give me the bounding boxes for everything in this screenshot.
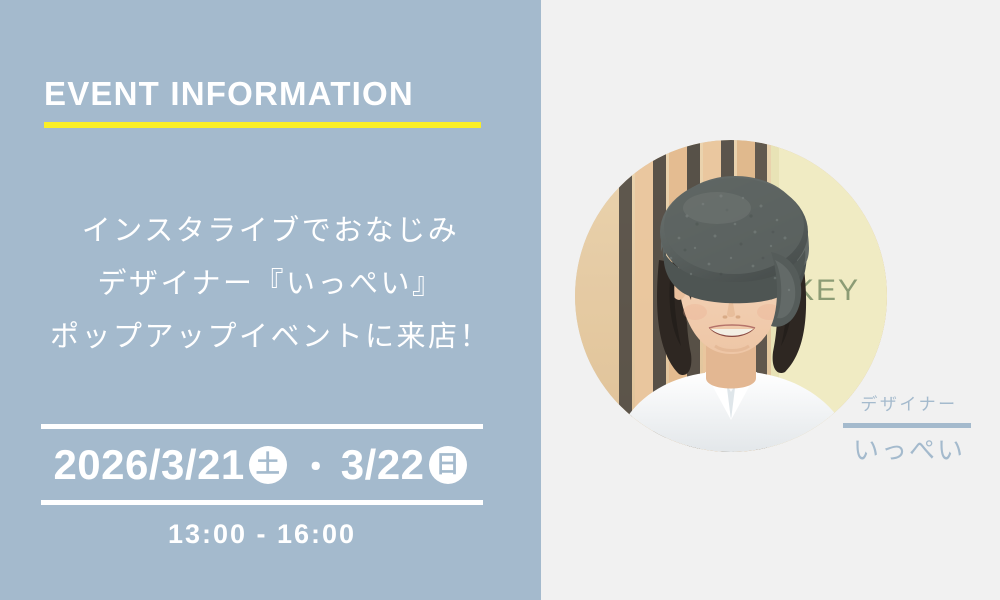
- lede-line-1: インスタライブでおなじみ: [0, 205, 541, 258]
- date-row: 2026/3/21 土 ・ 3/22 日: [41, 429, 483, 500]
- event-time: 13:00 - 16:00: [41, 519, 483, 550]
- right-photo-panel: KEY: [541, 0, 1000, 600]
- headline-underline: [44, 122, 481, 128]
- second-date: 3/22: [341, 441, 425, 489]
- date-block: 2026/3/21 土 ・ 3/22 日 13:00 - 16:00: [41, 424, 483, 550]
- date-separator: ・: [299, 440, 333, 489]
- role-label: デザイナー: [843, 392, 975, 418]
- day-badge-saturday: 土: [249, 446, 287, 484]
- page-title: EVENT INFORMATION: [44, 76, 484, 112]
- event-information-banner: EVENT INFORMATION インスタライブでおなじみ デザイナー『いっぺ…: [0, 0, 1000, 600]
- day-badge-sunday: 日: [429, 446, 467, 484]
- lede-text-block: インスタライブでおなじみ デザイナー『いっぺい』 ポップアップイベントに来店！: [0, 205, 541, 363]
- first-date: 2026/3/21: [53, 441, 244, 489]
- name-divider: [843, 423, 971, 428]
- lede-line-2: デザイナー『いっぺい』: [0, 258, 541, 311]
- headline-block: EVENT INFORMATION: [44, 76, 484, 128]
- portrait-photo: KEY: [575, 140, 887, 452]
- designer-name-caption: デザイナー いっぺい: [843, 392, 975, 468]
- lede-line-3: ポップアップイベントに来店！: [0, 311, 541, 364]
- date-rule-bottom: [41, 500, 483, 505]
- left-info-panel: EVENT INFORMATION インスタライブでおなじみ デザイナー『いっぺ…: [0, 0, 541, 600]
- avatar: KEY: [575, 140, 887, 452]
- person-name: いっぺい: [843, 432, 975, 468]
